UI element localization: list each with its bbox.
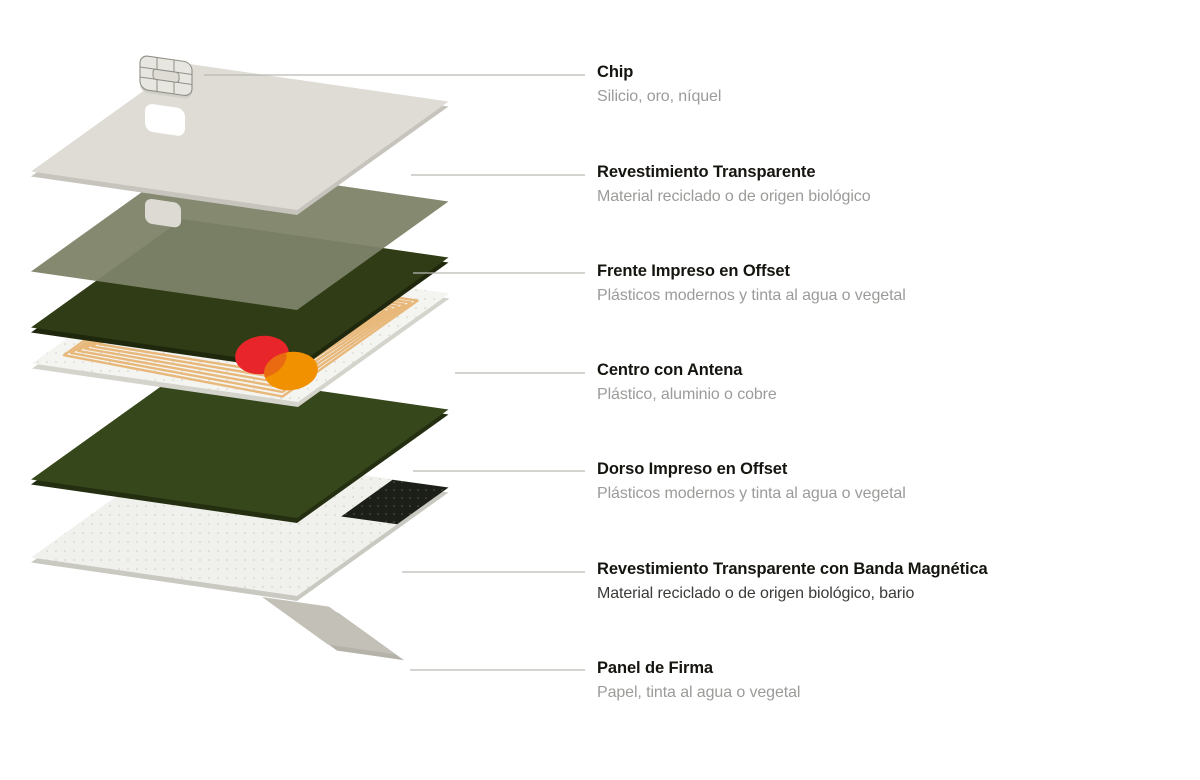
label-subtitle: Material reciclado o de origen biológico…: [597, 584, 988, 604]
label-offset-front: Frente Impreso en Offset Plásticos moder…: [597, 262, 906, 306]
label-clear-coat-front: Revestimiento Transparente Material reci…: [597, 163, 871, 207]
label-subtitle: Silicio, oro, níquel: [597, 87, 721, 107]
diagram-canvas: Chip Silicio, oro, níquel Revestimiento …: [0, 0, 1200, 780]
label-subtitle: Plásticos modernos y tinta al agua o veg…: [597, 286, 906, 306]
label-offset-back: Dorso Impreso en Offset Plásticos modern…: [597, 460, 906, 504]
label-subtitle: Plástico, aluminio o cobre: [597, 385, 777, 405]
label-title: Revestimiento Transparente con Banda Mag…: [597, 560, 988, 580]
label-column: Chip Silicio, oro, níquel Revestimiento …: [0, 0, 1200, 780]
label-signature-panel: Panel de Firma Papel, tinta al agua o ve…: [597, 659, 800, 703]
label-antenna-core: Centro con Antena Plástico, aluminio o c…: [597, 361, 777, 405]
label-title: Frente Impreso en Offset: [597, 262, 906, 282]
label-chip: Chip Silicio, oro, níquel: [597, 63, 721, 107]
label-title: Centro con Antena: [597, 361, 777, 381]
label-subtitle: Material reciclado o de origen biológico: [597, 187, 871, 207]
label-clear-coat-magstripe: Revestimiento Transparente con Banda Mag…: [597, 560, 988, 604]
label-title: Panel de Firma: [597, 659, 800, 679]
label-title: Chip: [597, 63, 721, 83]
label-subtitle: Papel, tinta al agua o vegetal: [597, 683, 800, 703]
label-title: Revestimiento Transparente: [597, 163, 871, 183]
label-title: Dorso Impreso en Offset: [597, 460, 906, 480]
label-subtitle: Plásticos modernos y tinta al agua o veg…: [597, 484, 906, 504]
